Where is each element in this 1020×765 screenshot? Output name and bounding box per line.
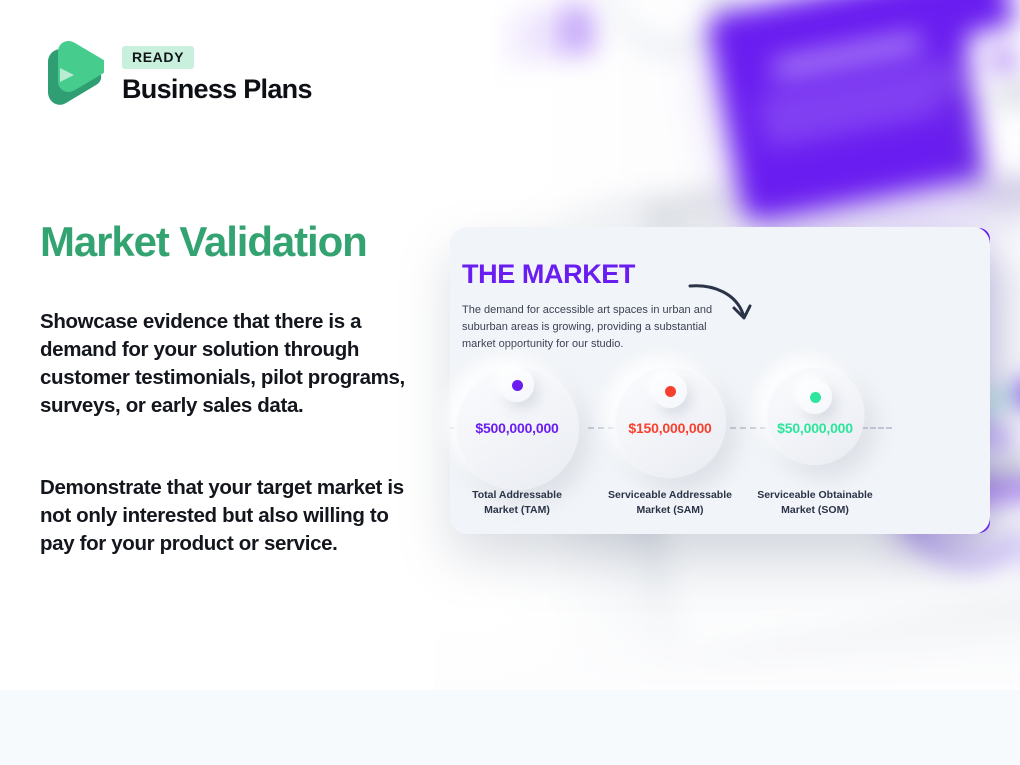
market-dot-tam-icon <box>512 380 523 391</box>
segment-label-line2: Market (TAM) <box>484 504 550 516</box>
page-title: Market Validation <box>40 218 367 266</box>
bg-bar <box>993 75 1020 107</box>
market-dot-sam-icon <box>665 386 676 397</box>
ready-badge: READY <box>122 46 194 69</box>
segment-label: Total Addressable Market (TAM) <box>442 488 592 518</box>
segment-label-line1: Serviceable Obtainable <box>757 489 873 501</box>
market-segments-chart: $500,000,000 Total Addressable Market (T… <box>450 360 890 510</box>
market-segment-som: $50,000,000 Serviceable Obtainable Marke… <box>740 360 890 510</box>
segment-bubble-wrap: $500,000,000 <box>452 360 582 478</box>
bg-text-line <box>772 34 922 76</box>
brand-lockup: READY Business Plans <box>40 38 312 112</box>
slide-canvas: READY Business Plans Market Validation S… <box>0 0 1020 765</box>
segment-label-line2: Market (SAM) <box>636 504 703 516</box>
segment-bubble-wrap: $50,000,000 <box>750 360 880 478</box>
body-paragraph-2: Demonstrate that your target market is n… <box>40 474 415 558</box>
brand-text-block: READY Business Plans <box>122 46 312 105</box>
segment-value: $150,000,000 <box>628 420 711 436</box>
curved-arrow-down-right-icon <box>688 282 758 327</box>
play-triangle-logo-icon <box>40 38 104 112</box>
segment-label: Serviceable Addressable Market (SAM) <box>595 488 745 518</box>
market-segment-tam: $500,000,000 Total Addressable Market (T… <box>442 360 592 510</box>
segment-value: $500,000,000 <box>475 420 558 436</box>
segment-label-line2: Market (SOM) <box>781 504 849 516</box>
segment-knob <box>653 374 687 408</box>
segment-knob <box>798 380 832 414</box>
market-card-title: THE MARKET <box>462 259 635 290</box>
market-segment-sam: $150,000,000 Serviceable Addressable Mar… <box>595 360 745 510</box>
brand-title: Business Plans <box>122 74 312 105</box>
bottom-band <box>0 690 1020 765</box>
segment-label-line1: Total Addressable <box>472 489 562 501</box>
segment-knob <box>500 368 534 402</box>
market-dot-som-icon <box>810 392 821 403</box>
segment-bubble-wrap: $150,000,000 <box>605 360 735 478</box>
segment-value: $50,000,000 <box>777 420 853 436</box>
bg-dot <box>992 49 1015 72</box>
photo-bottom-fade <box>435 510 1020 690</box>
segment-label-line1: Serviceable Addressable <box>608 489 732 501</box>
segment-label: Serviceable Obtainable Market (SOM) <box>740 488 890 518</box>
market-card-description: The demand for accessible art spaces in … <box>462 302 718 353</box>
body-paragraph-1: Showcase evidence that there is a demand… <box>40 308 415 420</box>
